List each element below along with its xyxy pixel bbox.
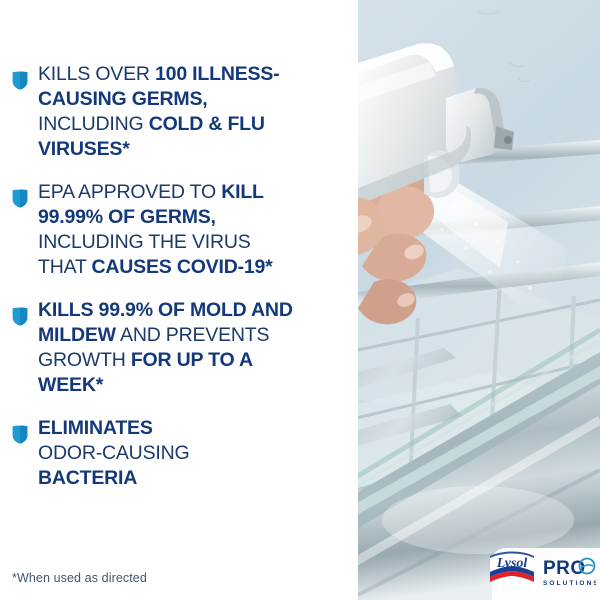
footnote-disclaimer: *When used as directed (12, 570, 147, 586)
solutions-text: SOLUTIONS (543, 580, 596, 587)
claim-item: KILLS 99.9% OF MOLD ANDMILDEW AND PREVEN… (0, 298, 358, 398)
lysol-pro-solutions-logo: Lysol PRO SOLUTIONS (488, 548, 596, 592)
claim-text: EPA APPROVED TO KILL99.99% OF GERMS,INCL… (38, 180, 350, 280)
claim-item: KILLS OVER 100 ILLNESS-CAUSING GERMS,INC… (0, 62, 358, 162)
shield-icon (12, 189, 28, 208)
photo-illustration (358, 0, 600, 600)
claim-text: KILLS 99.9% OF MOLD ANDMILDEW AND PREVEN… (38, 298, 350, 398)
pro-solutions-logo: PRO SOLUTIONS (543, 558, 596, 587)
lysol-wordmark: Lysol (496, 556, 528, 571)
lysol-logo: Lysol (490, 552, 534, 589)
shield-icon (12, 307, 28, 326)
claim-item: ELIMINATESODOR-CAUSINGBACTERIA (0, 416, 358, 491)
lysol-pro-solutions-poster: KILLS OVER 100 ILLNESS-CAUSING GERMS,INC… (0, 0, 600, 600)
claim-text: ELIMINATESODOR-CAUSINGBACTERIA (38, 416, 350, 491)
claims-panel: KILLS OVER 100 ILLNESS-CAUSING GERMS,INC… (0, 0, 358, 600)
claims-list: KILLS OVER 100 ILLNESS-CAUSING GERMS,INC… (0, 62, 358, 509)
product-photo (358, 0, 600, 600)
claim-text: KILLS OVER 100 ILLNESS-CAUSING GERMS,INC… (38, 62, 350, 162)
claim-item: EPA APPROVED TO KILL99.99% OF GERMS,INCL… (0, 180, 358, 280)
shield-icon (12, 425, 28, 444)
shield-icon (12, 71, 28, 90)
